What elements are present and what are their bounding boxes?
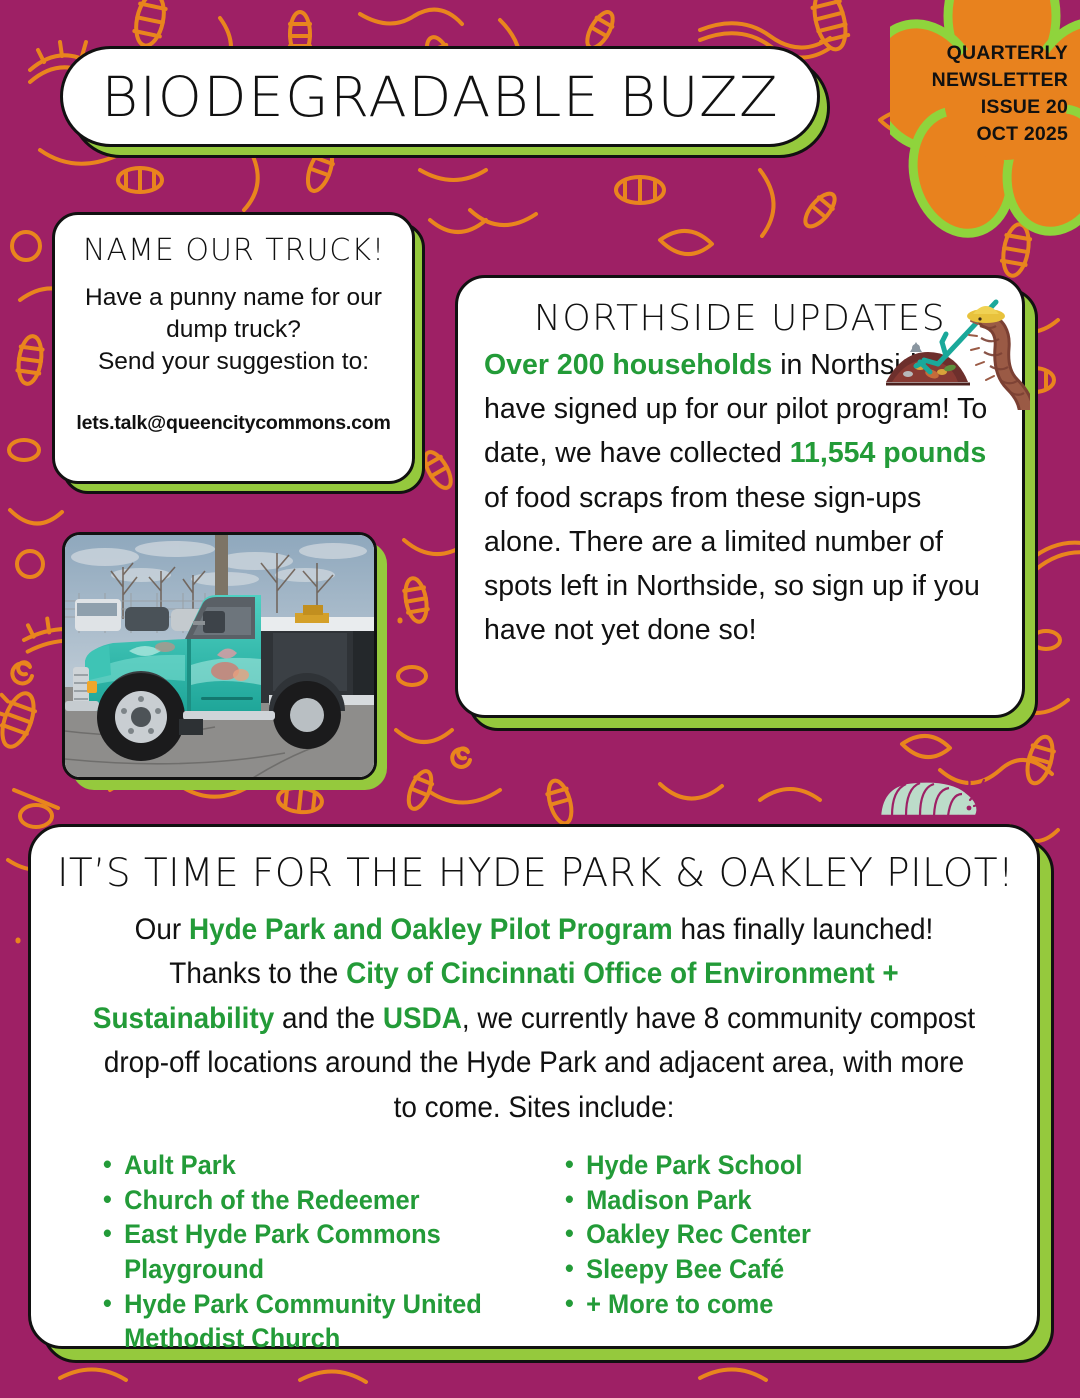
issue-meta-line-2: NEWSLETTER [890, 67, 1068, 94]
worm-with-pitchfork-icon [880, 290, 1030, 410]
sites-column-left: Ault Park Church of the Redeemer East Hy… [57, 1148, 529, 1356]
pilot-text-3: and the [274, 1002, 383, 1035]
list-item: + More to come [565, 1287, 993, 1322]
list-item: Ault Park [103, 1148, 512, 1183]
northside-text-2: of food scraps from these sign-ups alone… [484, 482, 980, 647]
northside-stat-pounds: 11,554 pounds [790, 437, 986, 469]
truck-prompt-line-3: Send your suggestion to: [73, 346, 394, 378]
header-banner: BIODEGRADABLE BUZZ [60, 46, 820, 147]
truck-prompt-line-1: Have a punny name for our [73, 282, 394, 314]
pilot-section-card: IT’S TIME FOR THE HYDE PARK & OAKLEY PIL… [28, 824, 1040, 1349]
list-item: East Hyde Park Commons Playground [103, 1217, 512, 1286]
list-item: Hyde Park Community United Methodist Chu… [103, 1287, 512, 1356]
pilot-text-1: Our [135, 913, 189, 946]
issue-meta-line-1: QUARTERLY [890, 40, 1068, 67]
list-item: Hyde Park School [565, 1148, 993, 1183]
list-item: Church of the Redeemer [103, 1183, 512, 1218]
issue-meta: QUARTERLY NEWSLETTER ISSUE 20 OCT 2025 [890, 40, 1068, 148]
issue-meta-line-3: ISSUE 20 [890, 94, 1068, 121]
northside-stat-households: Over 200 households [484, 349, 772, 381]
name-our-truck-card: NAME OUR TRUCK! Have a punny name for ou… [52, 212, 415, 484]
list-item: Sleepy Bee Café [565, 1252, 993, 1287]
list-item: Oakley Rec Center [565, 1217, 993, 1252]
pilot-body: Our Hyde Park and Oakley Pilot Program h… [90, 908, 977, 1130]
drop-off-sites: Ault Park Church of the Redeemer East Hy… [57, 1148, 1011, 1356]
page-title: BIODEGRADABLE BUZZ [101, 65, 779, 129]
pilot-program-name: Hyde Park and Oakley Pilot Program [189, 913, 673, 946]
name-our-truck-heading: NAME OUR TRUCK! [83, 233, 394, 268]
truck-prompt-line-2: dump truck? [73, 314, 394, 346]
contact-email[interactable]: lets.talk@queencitycommons.com [73, 412, 394, 435]
issue-meta-line-4: OCT 2025 [890, 121, 1068, 148]
truck-photo [62, 532, 377, 780]
pilot-heading: IT’S TIME FOR THE HYDE PARK & OAKLEY PIL… [57, 851, 1011, 896]
sites-column-right: Hyde Park School Madison Park Oakley Rec… [539, 1148, 1011, 1356]
list-item: Madison Park [565, 1183, 993, 1218]
pilot-partner-usda: USDA [383, 1002, 462, 1035]
